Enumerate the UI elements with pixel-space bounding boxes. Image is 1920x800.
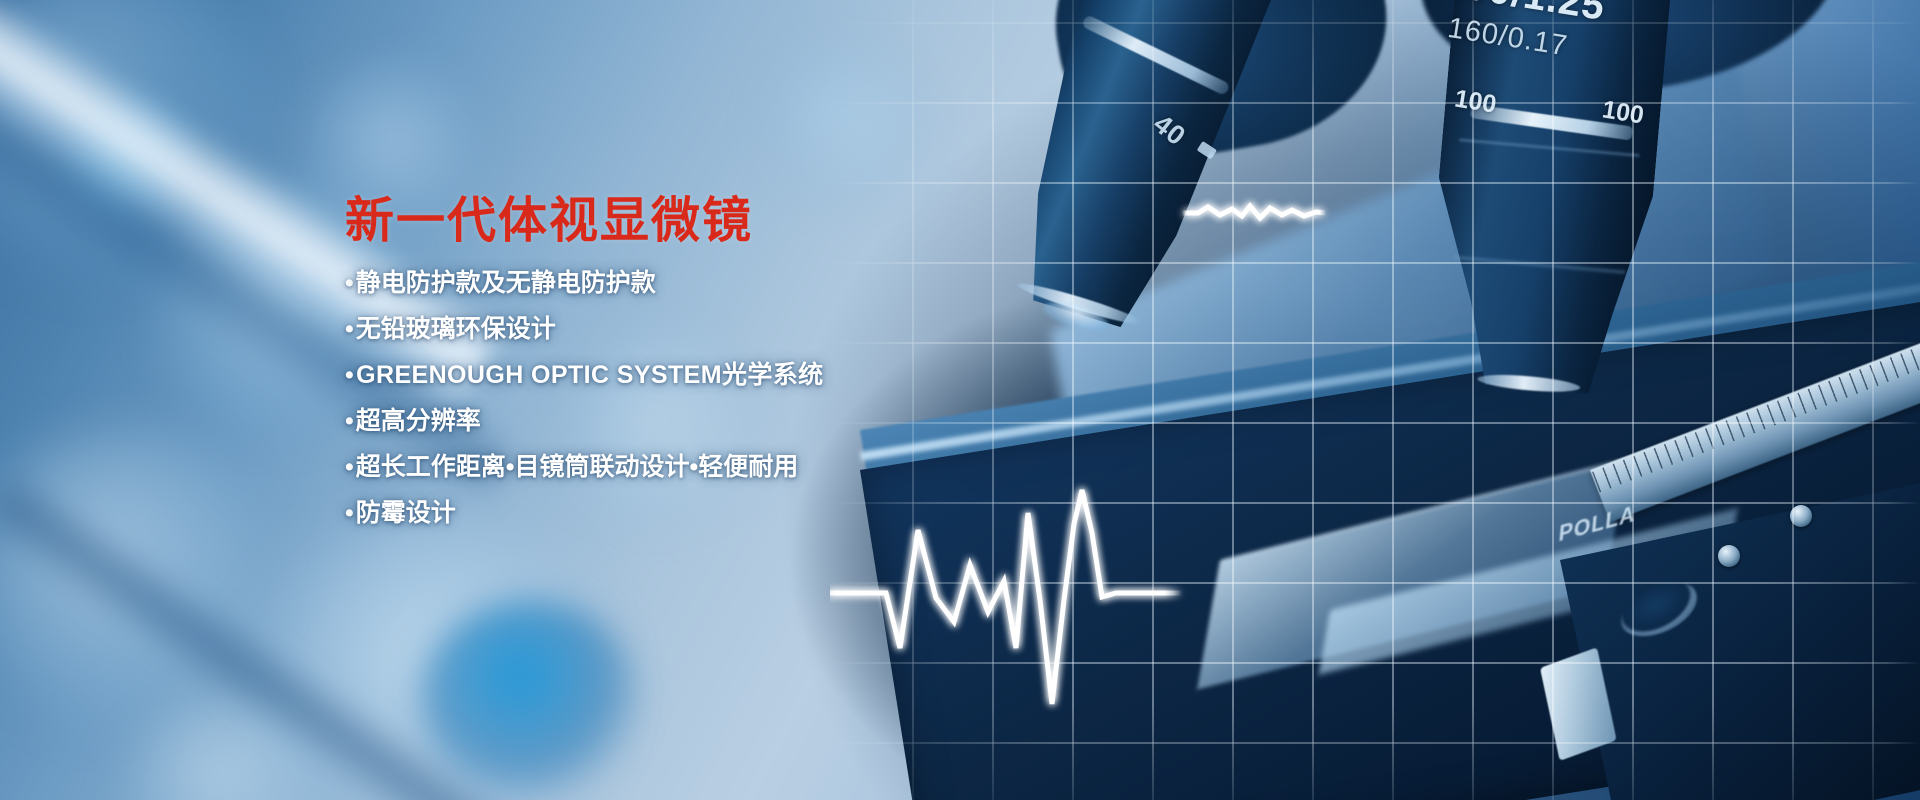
feature-item-2: •GREENOUGH OPTIC SYSTEM光学系统	[345, 363, 1085, 388]
bullet-icon: •	[345, 271, 354, 296]
feature-label-4: 超长工作距离•目镜筒联动设计•轻便耐用	[356, 453, 799, 481]
feature-item-5: •防霉设计	[345, 501, 1085, 526]
bullet-icon: •	[345, 501, 354, 526]
feature-label-1: 无铅玻璃环保设计	[356, 315, 556, 343]
feature-label-2: GREENOUGH OPTIC SYSTEM光学系统	[356, 361, 823, 389]
feature-item-4: •超长工作距离•目镜筒联动设计•轻便耐用	[345, 455, 1085, 480]
bullet-icon: •	[345, 317, 354, 342]
feature-item-1: •无铅玻璃环保设计	[345, 317, 1085, 342]
hero-banner: POLLA 40 100/1.25 160/0.17 100 100	[0, 0, 1920, 800]
ruler-screw-1	[1790, 505, 1812, 527]
feature-item-3: •超高分辨率	[345, 409, 1085, 434]
bullet-icon: •	[345, 455, 354, 480]
feature-label-3: 超高分辨率	[356, 407, 481, 435]
objective-lens-100x: 100/1.25 160/0.17 100 100	[1421, 0, 1674, 398]
feature-item-0: •静电防护款及无静电防护款	[345, 271, 1085, 296]
page-title: 新一代体视显微镜	[345, 196, 1085, 247]
marketing-copy-block: 新一代体视显微镜 •静电防护款及无静电防护款 •无铅玻璃环保设计 •GREENO…	[345, 196, 1085, 547]
feature-list: •静电防护款及无静电防护款 •无铅玻璃环保设计 •GREENOUGH OPTIC…	[345, 271, 1085, 526]
bullet-icon: •	[345, 363, 354, 388]
bullet-icon: •	[345, 409, 354, 434]
feature-label-0: 静电防护款及无静电防护款	[356, 269, 656, 297]
feature-label-5: 防霉设计	[356, 499, 456, 527]
